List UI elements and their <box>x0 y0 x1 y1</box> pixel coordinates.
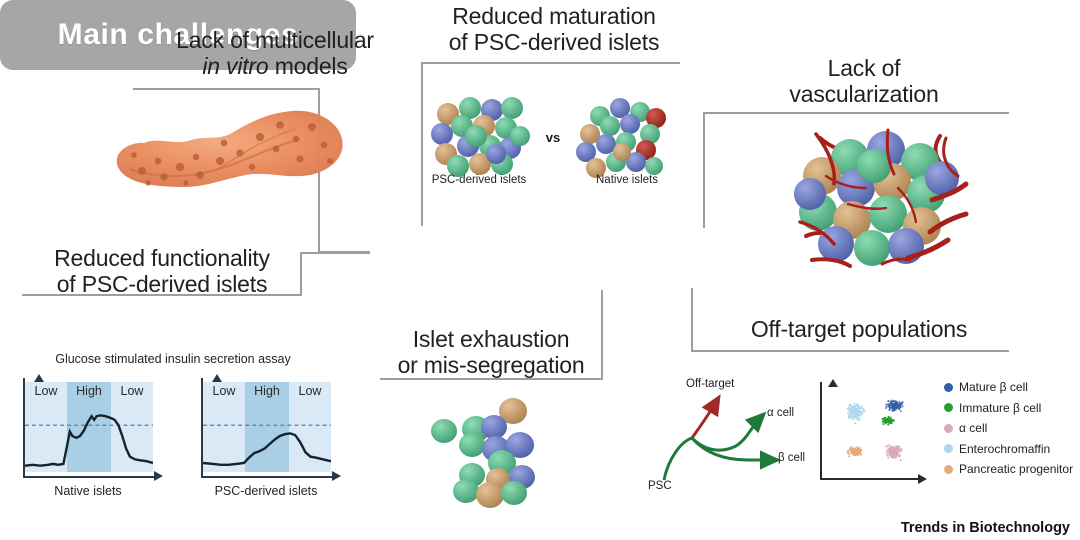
heading-italic: in vitro <box>202 53 268 79</box>
gsis-chart-psc: Low High Low PSC-derived islets <box>186 376 352 504</box>
lineage-label-beta-cell: β cell <box>778 452 805 464</box>
gsis-x-axis <box>23 476 157 478</box>
vascularized-islet <box>790 118 1010 283</box>
heading-line-1: Islet exhaustion <box>380 327 602 353</box>
lineage-diagram: Off-target α cell β cell PSC <box>648 376 818 501</box>
scatter-x-axis <box>820 478 920 480</box>
legend-item: Mature β cell <box>944 377 1073 398</box>
connector-upper-left-h <box>133 88 320 90</box>
heading-lack-multicellular: Lack of multicellular in vitro models <box>145 28 405 80</box>
dispersed-islet-cells <box>430 395 610 515</box>
heading-line-2: of PSC-derived islets <box>24 272 300 298</box>
scatter-legend: Mature β cell Immature β cell α cell Ent… <box>944 377 1073 480</box>
heading-rest: models <box>269 53 348 79</box>
legend-dot-enterochromaffin <box>944 444 953 453</box>
legend-dot-immature-beta <box>944 403 953 412</box>
pancreas-illustration <box>100 95 355 200</box>
legend-dot-alpha-cell <box>944 424 953 433</box>
heading-line-2: or mis-segregation <box>380 353 602 379</box>
heading-off-target: Off-target populations <box>706 317 1012 343</box>
legend-label: Pancreatic progenitor <box>959 462 1073 476</box>
gsis-caption-native: Native islets <box>8 484 168 498</box>
heading-line-2: vascularization <box>744 82 984 108</box>
heading-line-1: Lack of <box>744 56 984 82</box>
band-label-high: High <box>245 384 289 398</box>
psc-derived-islet-cluster <box>431 97 530 177</box>
gsis-title: Glucose stimulated insulin secretion ass… <box>14 352 332 366</box>
native-islet-cluster <box>576 98 666 178</box>
lineage-label-psc: PSC <box>648 480 672 492</box>
x-axis-arrow-icon <box>154 471 163 481</box>
vs-label-svg: vs <box>546 130 560 145</box>
band-label-low-1: Low <box>203 384 245 398</box>
connector-lower-left-h2 <box>300 252 370 254</box>
psc-derived-islets-caption: PSC-derived islets <box>424 174 534 186</box>
heading-line-1: Reduced functionality <box>24 246 300 272</box>
legend-item: α cell <box>944 418 1073 439</box>
legend-dot-mature-beta <box>944 383 953 392</box>
band-label-low-1: Low <box>25 384 67 398</box>
legend-item: Immature β cell <box>944 398 1073 419</box>
legend-item: Enterochromaffin <box>944 439 1073 460</box>
gsis-caption-psc: PSC-derived islets <box>186 484 346 498</box>
y-axis-arrow-icon <box>34 374 44 382</box>
heading-line-1: Lack of multicellular <box>145 28 405 54</box>
scatter-points <box>823 382 927 478</box>
lineage-label-off-target: Off-target <box>686 378 734 390</box>
maturation-panel: vs PSC-derived islets Native islets <box>424 92 682 192</box>
connector-lower-left-v <box>300 252 302 296</box>
legend-dot-pancreatic-progenitor <box>944 465 953 474</box>
legend-label: α cell <box>959 421 987 435</box>
heading-line-2: in vitro models <box>145 54 405 80</box>
legend-item: Pancreatic progenitor <box>944 459 1073 480</box>
legend-label: Immature β cell <box>959 401 1041 415</box>
legend-label: Enterochromaffin <box>959 442 1050 456</box>
heading-reduced-functionality: Reduced functionality of PSC-derived isl… <box>24 246 300 298</box>
y-axis-arrow-icon <box>212 374 222 382</box>
x-axis-arrow-icon <box>332 471 341 481</box>
native-islets-caption: Native islets <box>572 174 682 186</box>
connector-upper-right-h <box>703 112 1009 114</box>
band-label-low-2: Low <box>111 384 153 398</box>
band-label-low-2: Low <box>289 384 331 398</box>
heading-line-1: Reduced maturation <box>424 4 684 30</box>
scatter-y-axis <box>820 382 822 478</box>
heading-line-2: of PSC-derived islets <box>424 30 684 56</box>
heading-reduced-maturation: Reduced maturation of PSC-derived islets <box>424 4 684 56</box>
journal-credit: Trends in Biotechnology <box>901 520 1070 536</box>
connector-upper-right-v <box>703 112 705 228</box>
heading-lack-vascularization: Lack of vascularization <box>744 56 984 108</box>
legend-label: Mature β cell <box>959 380 1028 394</box>
connector-lower-right-v <box>691 288 693 352</box>
lineage-label-alpha-cell: α cell <box>767 407 794 419</box>
gsis-chart-native: Low High Low Native islets <box>8 376 174 504</box>
heading-islet-exhaustion: Islet exhaustion or mis-segregation <box>380 327 602 379</box>
heading-line-1: Off-target populations <box>706 317 1012 343</box>
umap-scatter-plot <box>808 378 933 496</box>
gsis-x-axis <box>201 476 335 478</box>
band-label-high: High <box>67 384 111 398</box>
connector-lower-right-h <box>691 350 1009 352</box>
